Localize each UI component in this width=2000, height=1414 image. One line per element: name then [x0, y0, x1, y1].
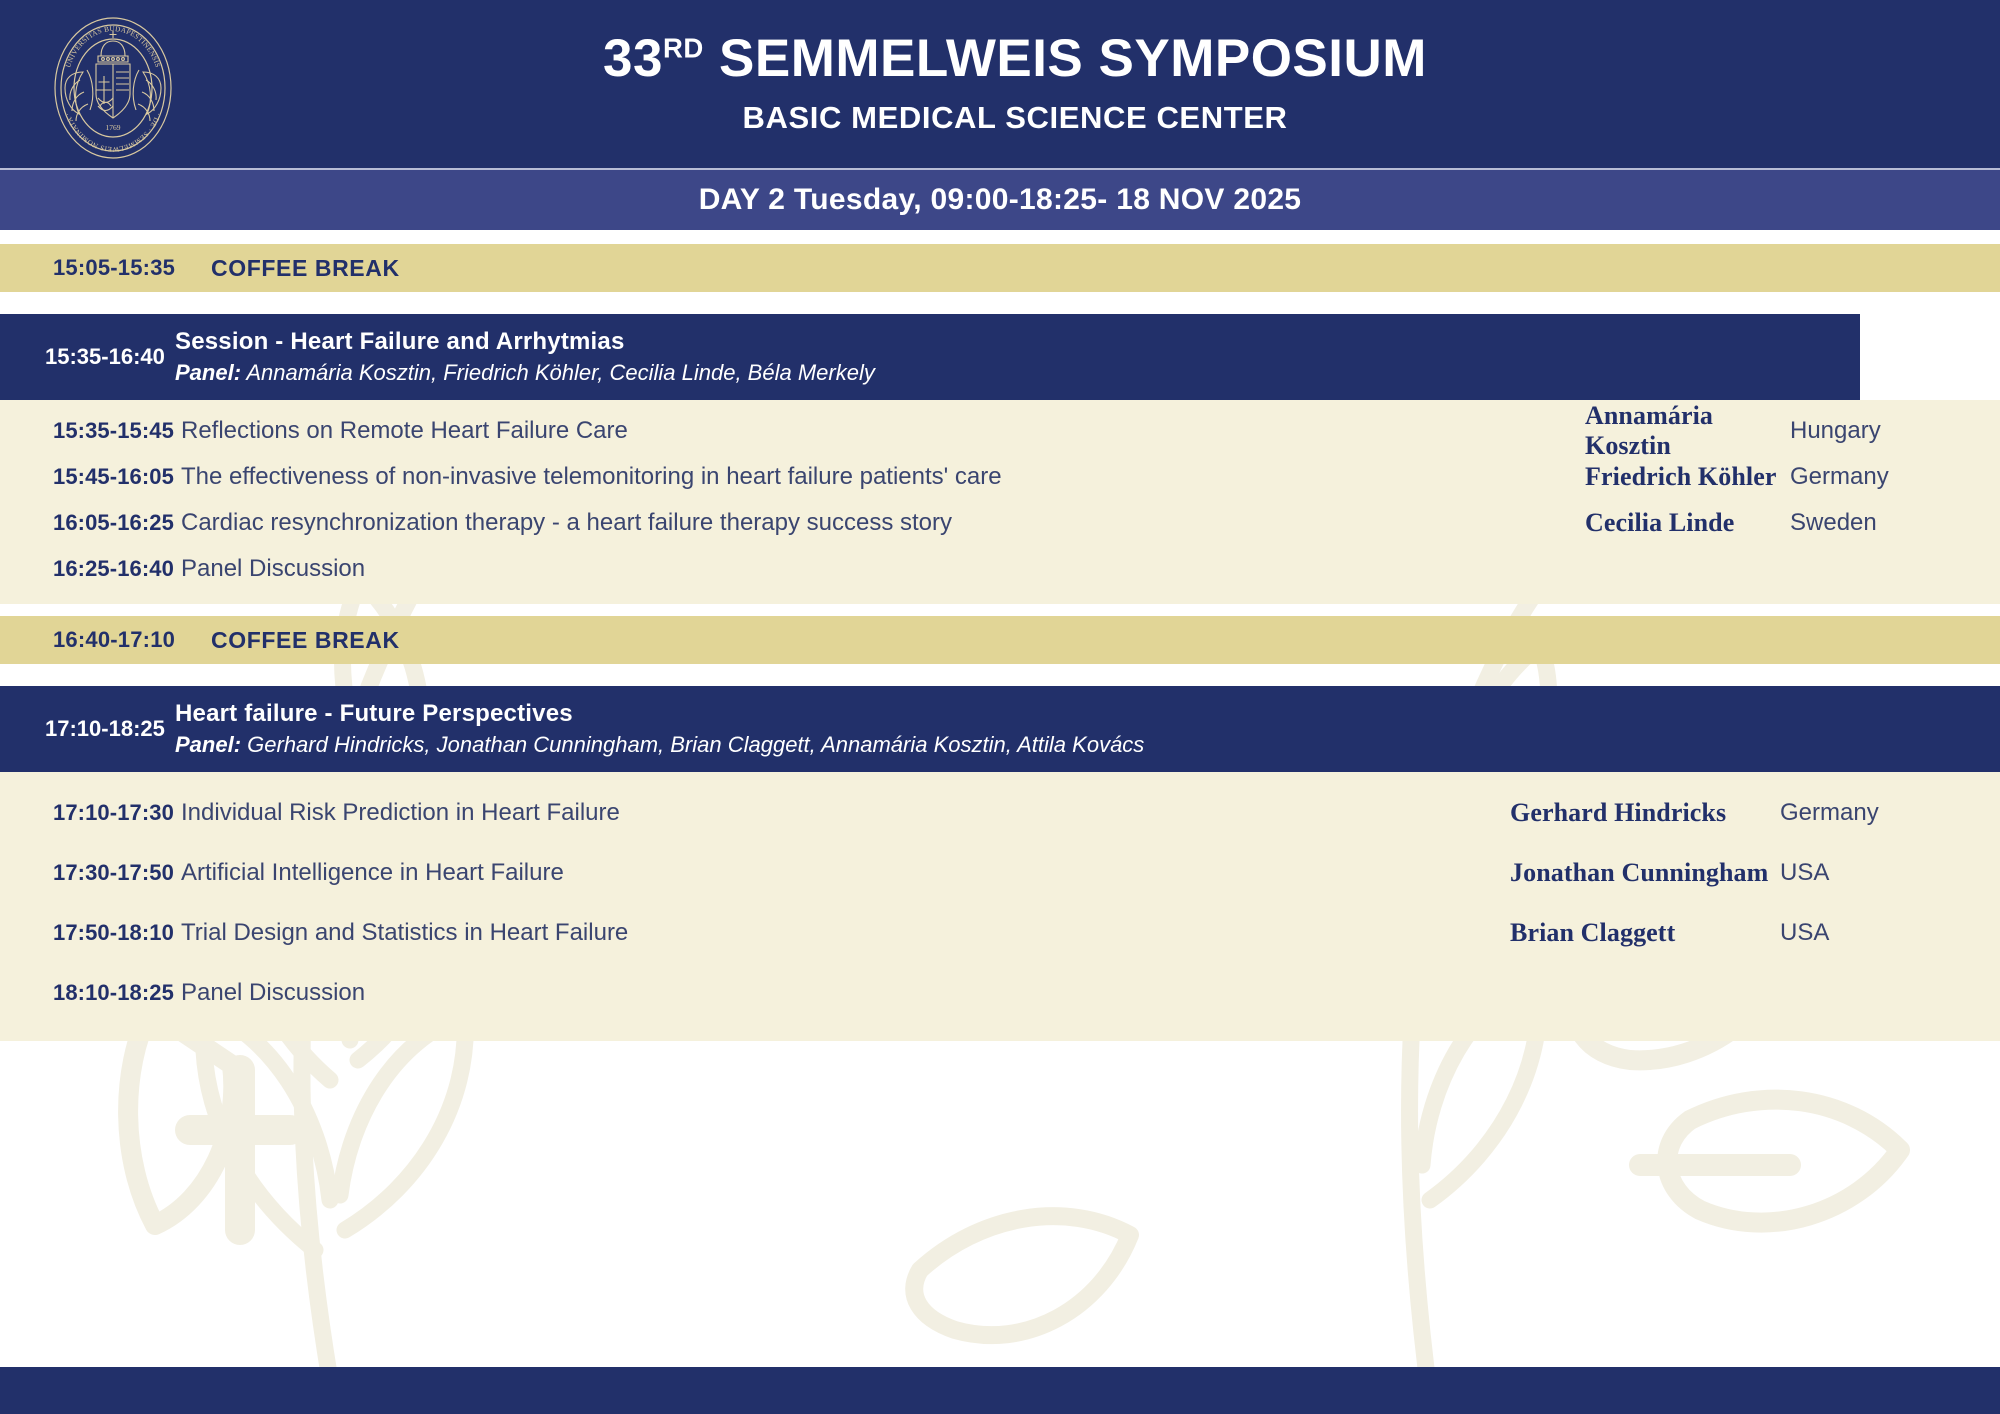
talk-row: 17:50-18:10 Trial Design and Statistics … [0, 903, 2000, 963]
talk-list: 15:35-15:45 Reflections on Remote Heart … [0, 400, 2000, 604]
talk-time: 16:25-16:40 [53, 556, 181, 582]
talk-row: 15:35-15:45 Reflections on Remote Heart … [0, 408, 2000, 454]
title-rest: SEMMELWEIS SYMPOSIUM [704, 29, 1427, 88]
talk-row: 16:05-16:25 Cardiac resynchronization th… [0, 500, 2000, 546]
talk-row: 17:10-17:30 Individual Risk Prediction i… [0, 783, 2000, 843]
day-banner-text: DAY 2 Tuesday, 09:00-18:25- 18 NOV 2025 [699, 183, 1302, 217]
talk-country: Hungary [1790, 417, 1960, 445]
break-time: 16:40-17:10 [53, 627, 211, 653]
talk-country: Sweden [1790, 509, 1960, 537]
session-time: 15:35-16:40 [45, 344, 175, 370]
talk-title: Individual Risk Prediction in Heart Fail… [181, 799, 1350, 827]
talk-time: 15:35-15:45 [53, 418, 181, 444]
footer-bar [0, 1367, 2000, 1414]
talk-time: 15:45-16:05 [53, 464, 181, 490]
talk-country: Germany [1790, 463, 1960, 491]
panel-label: Panel: [175, 732, 241, 757]
talk-time: 18:10-18:25 [53, 980, 181, 1006]
row-gap [0, 664, 2000, 686]
masthead: UNIVERSITAS BUDAPESTINENSIS · DE · SEMME… [0, 0, 2000, 168]
talk-title: Trial Design and Statistics in Heart Fai… [181, 919, 1350, 947]
session-header: 17:10-18:25 Heart failure - Future Persp… [0, 686, 2000, 772]
session-panel: Panel: Gerhard Hindricks, Jonathan Cunni… [175, 732, 2000, 758]
talk-list: 17:10-17:30 Individual Risk Prediction i… [0, 772, 2000, 1041]
page-title: 33RD SEMMELWEIS SYMPOSIUM [30, 32, 2000, 86]
talk-speaker: Jonathan Cunningham [1510, 858, 1780, 888]
talk-title: Reflections on Remote Heart Failure Care [181, 417, 1435, 445]
session-panel: Panel: Annamária Kosztin, Friedrich Köhl… [175, 360, 1860, 386]
break-label: COFFEE BREAK [211, 627, 400, 654]
schedule-list: 15:05-15:35 COFFEE BREAK 15:35-16:40 Ses… [0, 230, 2000, 1041]
row-gap [0, 230, 2000, 244]
symposium-programme-page: UNIVERSITAS BUDAPESTINENSIS · DE · SEMME… [0, 0, 2000, 1414]
talk-row: 17:30-17:50 Artificial Intelligence in H… [0, 843, 2000, 903]
university-seal-icon: UNIVERSITAS BUDAPESTINENSIS · DE · SEMME… [38, 14, 188, 162]
session-header-body: Session - Heart Failure and Arrhytmias P… [175, 328, 1860, 386]
session-time: 17:10-18:25 [45, 716, 175, 742]
talk-speaker: Gerhard Hindricks [1510, 798, 1780, 828]
talk-country: USA [1780, 919, 1960, 947]
talk-time: 17:50-18:10 [53, 920, 181, 946]
svg-text:1769: 1769 [106, 123, 121, 132]
title-number: 33 [603, 29, 663, 88]
talk-title: Panel Discussion [181, 555, 1435, 583]
talk-title: The effectiveness of non-invasive telemo… [181, 463, 1435, 491]
talk-time: 17:10-17:30 [53, 800, 181, 826]
break-label: COFFEE BREAK [211, 255, 400, 282]
session-title: Session - Heart Failure and Arrhytmias [175, 328, 1860, 356]
talk-speaker: Annamária Kosztin [1585, 401, 1790, 461]
break-row: 15:05-15:35 COFFEE BREAK [0, 244, 2000, 292]
session-header-body: Heart failure - Future Perspectives Pane… [175, 700, 2000, 758]
talk-title: Cardiac resynchronization therapy - a he… [181, 509, 1435, 537]
row-gap [0, 604, 2000, 616]
break-time: 15:05-15:35 [53, 255, 211, 281]
session-header: 15:35-16:40 Session - Heart Failure and … [0, 314, 1860, 400]
panel-label: Panel: [175, 360, 241, 385]
talk-speaker: Friedrich Köhler [1585, 462, 1790, 492]
talk-time: 17:30-17:50 [53, 860, 181, 886]
talk-country: USA [1780, 859, 1960, 887]
talk-title: Artificial Intelligence in Heart Failure [181, 859, 1350, 887]
row-gap [0, 292, 2000, 314]
break-row: 16:40-17:10 COFFEE BREAK [0, 616, 2000, 664]
talk-speaker: Cecilia Linde [1585, 508, 1790, 538]
page-subtitle: BASIC MEDICAL SCIENCE CENTER [30, 100, 2000, 136]
talk-country: Germany [1780, 799, 1960, 827]
day-banner: DAY 2 Tuesday, 09:00-18:25- 18 NOV 2025 [0, 168, 2000, 230]
talk-time: 16:05-16:25 [53, 510, 181, 536]
session-title: Heart failure - Future Perspectives [175, 700, 2000, 728]
talk-row: 16:25-16:40 Panel Discussion [0, 546, 2000, 592]
talk-row: 18:10-18:25 Panel Discussion [0, 963, 2000, 1023]
talk-speaker: Brian Claggett [1510, 918, 1780, 948]
talk-title: Panel Discussion [181, 979, 1350, 1007]
title-ordinal: RD [663, 33, 704, 64]
